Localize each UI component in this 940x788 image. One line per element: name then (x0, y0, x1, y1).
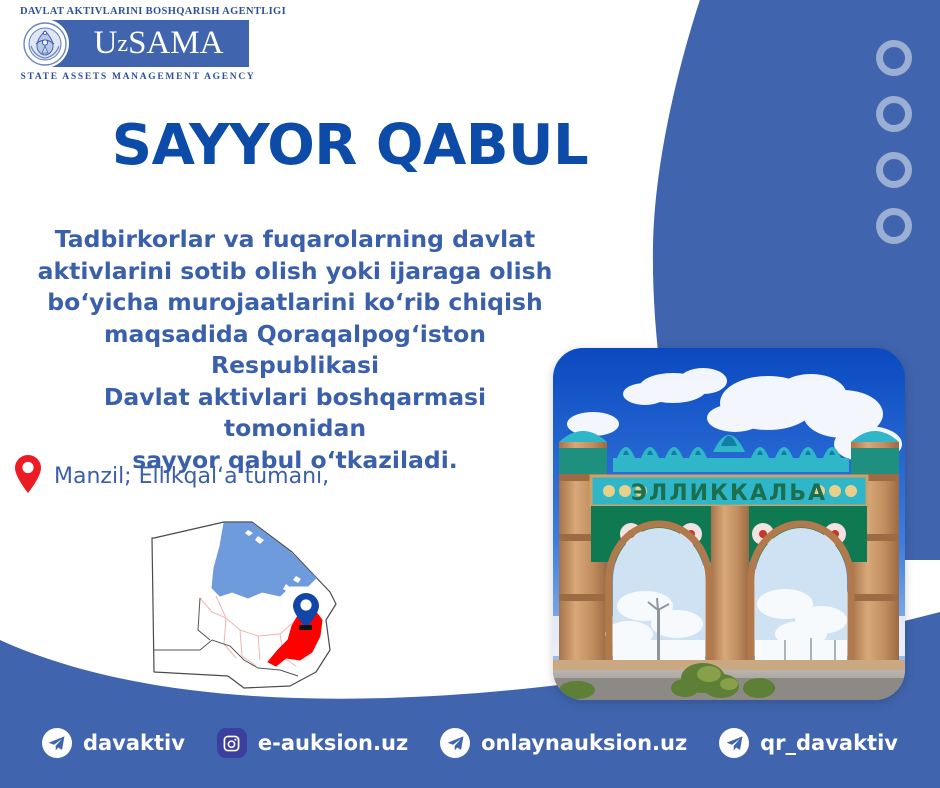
ring-icon (876, 40, 912, 76)
telegram-icon (42, 728, 72, 758)
logo-wordmark: UzSAMA (44, 20, 249, 67)
social-label: onlaynauksion.uz (481, 731, 687, 755)
body-line: Davlat aktivlari boshqarmasi tomonidan (30, 382, 560, 445)
social-label: davaktiv (83, 731, 185, 755)
logo-wordmark-u: U (94, 27, 118, 60)
region-map (140, 500, 370, 690)
logo-top-line: DAVLAT AKTIVLARINI BOSHQARISH AGENTLIGI (20, 6, 258, 17)
social-label: qr_davaktiv (760, 731, 898, 755)
footer-social-bar: davaktiv e-auksion.uz onlaynauksion.uz (0, 670, 940, 788)
logo-bottom-line: STATE ASSETS MANAGEMENT AGENCY (18, 72, 258, 82)
arch-inscription: ЭЛЛИККАЛЬА (631, 481, 827, 506)
body-line: Tadbirkorlar va fuqarolarning davlat (30, 224, 560, 256)
telegram-icon (440, 728, 470, 758)
decorative-rings (876, 40, 912, 244)
address-text: Manzil; Ellikqal‘a tumani, (54, 464, 329, 489)
location-pin-icon (12, 452, 44, 501)
telegram-icon (719, 728, 749, 758)
instagram-icon (217, 728, 247, 758)
poster-canvas: DAVLAT AKTIVLARINI BOSHQARISH AGENTLIGI … (0, 0, 940, 788)
logo-wordmark-z: z (117, 32, 128, 56)
location-photo: ЭЛЛИККАЛЬА (553, 348, 905, 700)
social-link-telegram-qrdavaktiv[interactable]: qr_davaktiv (719, 728, 898, 758)
ring-icon (876, 208, 912, 244)
ring-icon (876, 152, 912, 188)
body-paragraph: Tadbirkorlar va fuqarolarning davlat akt… (30, 224, 560, 476)
social-label: e-auksion.uz (258, 731, 408, 755)
body-line: bo‘yicha murojaatlarini ko‘rib chiqish (30, 287, 560, 319)
ring-icon (876, 96, 912, 132)
body-line: maqsadida Qoraqalpog‘iston Respublikasi (30, 319, 560, 382)
social-link-instagram-eauksion[interactable]: e-auksion.uz (217, 728, 408, 758)
address-row: Manzil; Ellikqal‘a tumani, (12, 452, 329, 501)
uzsama-logo: DAVLAT AKTIVLARINI BOSHQARISH AGENTLIGI … (18, 6, 258, 82)
logo-wordmark-sama: SAMA (128, 27, 223, 60)
body-line: aktivlarini sotib olish yoki ijaraga oli… (30, 256, 560, 288)
social-link-telegram-davaktiv[interactable]: davaktiv (42, 728, 185, 758)
uzbekistan-state-emblem-icon (20, 19, 69, 68)
page-title: SAYYOR QABUL (0, 118, 700, 174)
social-link-telegram-onlaynauksion[interactable]: onlaynauksion.uz (440, 728, 687, 758)
